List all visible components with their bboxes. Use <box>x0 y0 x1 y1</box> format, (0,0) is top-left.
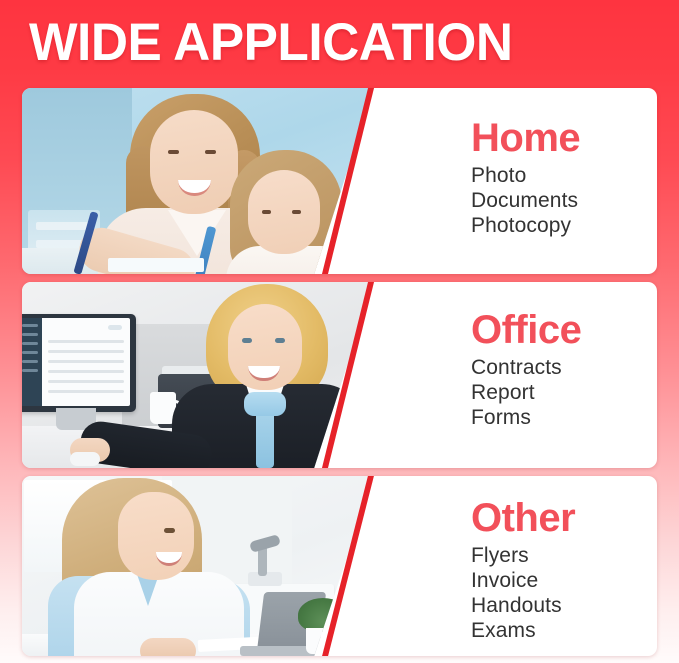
list-item: Photocopy <box>471 213 657 238</box>
laptop-base <box>240 646 336 656</box>
paper-sheet <box>108 258 204 272</box>
list-item: Invoice <box>471 568 657 593</box>
card-heading-office: Office <box>471 282 657 352</box>
plant-pot <box>306 628 340 654</box>
card-list-other: Flyers Invoice Handouts Exams <box>471 543 657 643</box>
office-woman-ribbon <box>256 412 274 468</box>
photo-other <box>22 476 374 656</box>
list-item: Photo <box>471 163 657 188</box>
child-face <box>248 170 320 254</box>
screen-sidebar <box>22 318 42 406</box>
lab-woman-hands <box>140 638 196 656</box>
office-scene-illustration <box>22 282 374 468</box>
card-list-office: Contracts Report Forms <box>471 355 657 430</box>
mother-eye-left <box>168 150 179 154</box>
list-item: Handouts <box>471 593 657 618</box>
poster-header: WIDE APPLICATION <box>0 0 679 85</box>
plant-icon <box>298 598 348 632</box>
mother-eye-right <box>205 150 216 154</box>
lab-woman-face <box>118 492 194 580</box>
child-eye-left <box>262 210 271 214</box>
text-pane-office: Office Contracts Report Forms <box>442 282 657 468</box>
mouse-icon <box>70 452 100 466</box>
text-pane-other: Other Flyers Invoice Handouts Exams <box>442 476 657 656</box>
lab-scene-illustration <box>22 476 374 656</box>
mother-face <box>150 110 238 214</box>
list-item: Contracts <box>471 355 657 380</box>
application-card-office: Office Contracts Report Forms <box>22 282 657 468</box>
home-scene-illustration <box>22 88 374 274</box>
office-woman-eye-right <box>275 338 285 343</box>
photo-office <box>22 282 374 468</box>
application-card-home: Home Photo Documents Photocopy <box>22 88 657 274</box>
photo-home <box>22 88 374 274</box>
test-tube-icon <box>338 610 349 638</box>
office-woman-eye-left <box>242 338 252 343</box>
card-heading-other: Other <box>471 476 657 540</box>
text-pane-home: Home Photo Documents Photocopy <box>442 88 657 274</box>
monitor-screen <box>22 318 130 406</box>
list-item: Documents <box>471 188 657 213</box>
card-list-home: Photo Documents Photocopy <box>471 163 657 238</box>
page-title: WIDE APPLICATION <box>29 14 512 72</box>
wide-application-poster: WIDE APPLICATION <box>0 0 679 663</box>
lab-woman-eye <box>164 528 175 533</box>
child-eye-right <box>292 210 301 214</box>
list-item: Flyers <box>471 543 657 568</box>
list-item: Exams <box>471 618 657 643</box>
screen-badge <box>108 325 122 330</box>
office-woman-bowtie <box>244 392 286 416</box>
card-heading-home: Home <box>471 88 657 160</box>
application-card-other: Other Flyers Invoice Handouts Exams <box>22 476 657 656</box>
list-item: Forms <box>471 405 657 430</box>
list-item: Report <box>471 380 657 405</box>
